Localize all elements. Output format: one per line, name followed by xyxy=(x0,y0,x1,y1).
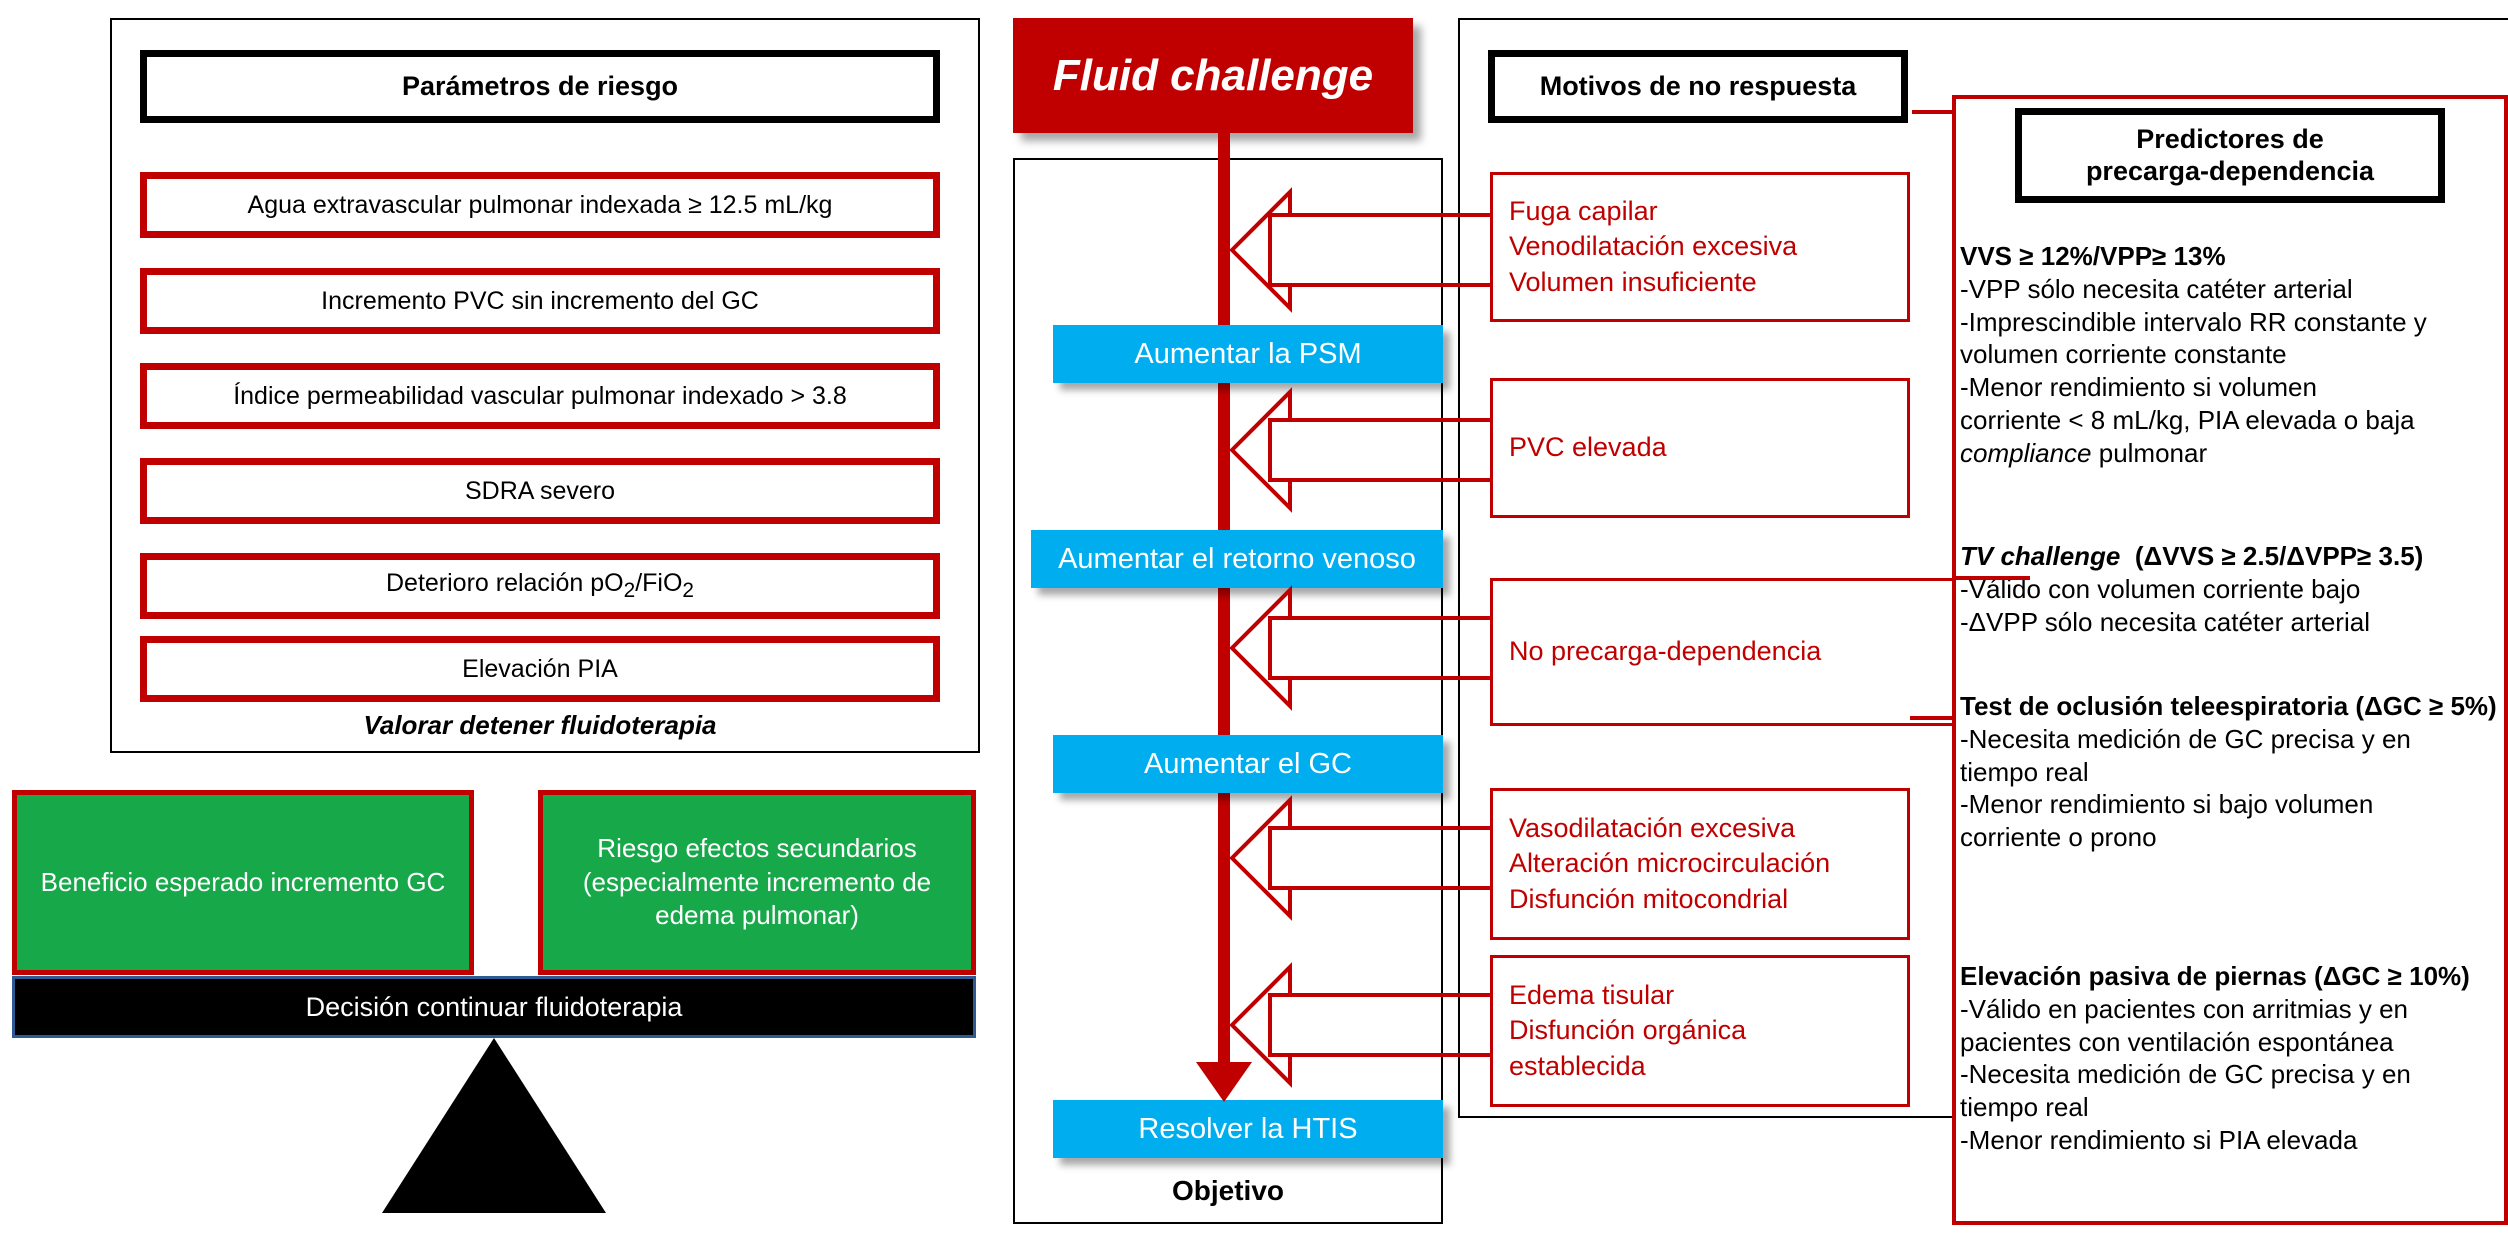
reason-line: establecida xyxy=(1509,1049,1907,1084)
flow-step-label: Resolver la HTIS xyxy=(1138,1113,1357,1146)
predictor-line: -Menor rendimiento si bajo volumen xyxy=(1960,788,2505,821)
reason-group-2: No precarga-dependencia xyxy=(1490,578,2030,726)
risk-item-label: SDRA severo xyxy=(465,477,615,506)
risk-item-1: Incremento PVC sin incremento del GC xyxy=(140,268,940,334)
predictor-line-italic-word: compliance xyxy=(1960,438,2092,468)
predictor-line: tiempo real xyxy=(1960,756,2505,789)
risk-item-3: SDRA severo xyxy=(140,458,940,524)
predictor-line: compliance pulmonar xyxy=(1960,437,2505,470)
reason-line: Disfunción mitocondrial xyxy=(1509,882,1907,917)
predictor-line: -ΔVPP sólo necesita catéter arterial xyxy=(1960,606,2508,639)
reason-line: Fuga capilar xyxy=(1509,194,1907,229)
flow-step-2: Aumentar el GC xyxy=(1053,735,1443,793)
reason-line: Vasodilatación excesiva xyxy=(1509,811,1907,846)
risk-item-label: Incremento PVC sin incremento del GC xyxy=(321,287,759,316)
reason-line: Venodilatación excesiva xyxy=(1509,229,1907,264)
decision-bar: Decisión continuar fluidoterapia xyxy=(12,976,976,1038)
predictor-section-tv-challenge: TV challenge (ΔVVS ≥ 2.5/ΔVPP≥ 3.5) -Vál… xyxy=(1960,540,2508,638)
diagram-canvas: Parámetros de riesgo Agua extravascular … xyxy=(0,0,2508,1258)
predictors-panel-header: Predictores de precarga-dependencia xyxy=(2015,108,2445,203)
risk-item-4: Deterioro relación pO2/FiO2 xyxy=(140,553,940,619)
predictor-line: tiempo real xyxy=(1960,1091,2505,1124)
predictor-title-italic: TV challenge xyxy=(1960,541,2120,571)
reason-line: No precarga-dependencia xyxy=(1509,634,2027,669)
flow-step-1: Aumentar el retorno venoso xyxy=(1031,530,1443,588)
reason-line: PVC elevada xyxy=(1509,430,1907,465)
predictor-line: -Imprescindible intervalo RR constante y xyxy=(1960,306,2505,339)
predictors-header-line2: precarga-dependencia xyxy=(2086,156,2374,187)
benefit-box: Beneficio esperado incremento GC xyxy=(12,790,474,975)
risk-item-label: Índice permeabilidad vascular pulmonar i… xyxy=(233,382,847,411)
fulcrum-triangle xyxy=(382,1038,606,1213)
predictor-line: -Válido con volumen corriente bajo xyxy=(1960,573,2508,606)
flow-spine xyxy=(1218,133,1230,1078)
predictor-line: volumen corriente constante xyxy=(1960,338,2505,371)
predictor-line: pacientes con ventilación espontánea xyxy=(1960,1026,2505,1059)
predictor-title: Elevación pasiva de piernas (ΔGC ≥ 10%) xyxy=(1960,960,2505,993)
reason-line: Alteración microcirculación xyxy=(1509,846,1907,881)
risk-item-label: Deterioro relación pO2/FiO2 xyxy=(386,569,694,603)
predictor-section-oclusion: Test de oclusión teleespiratoria (ΔGC ≥ … xyxy=(1960,690,2505,854)
fluid-challenge-label: Fluid challenge xyxy=(1053,51,1373,101)
predictor-line: -VPP sólo necesita catéter arterial xyxy=(1960,273,2505,306)
reason-line: Disfunción orgánica xyxy=(1509,1013,1907,1048)
reason-line: Edema tisular xyxy=(1509,978,1907,1013)
predictor-line: -Menor rendimiento si volumen xyxy=(1960,371,2505,404)
reason-group-3: Vasodilatación excesiva Alteración micro… xyxy=(1490,788,1910,940)
reason-line: Volumen insuficiente xyxy=(1509,265,1907,300)
center-footer-label: Objetivo xyxy=(1172,1175,1284,1206)
risk-item-label: Agua extravascular pulmonar indexada ≥ 1… xyxy=(248,191,833,220)
risk-item-0: Agua extravascular pulmonar indexada ≥ 1… xyxy=(140,172,940,238)
benefit-box-label: Beneficio esperado incremento GC xyxy=(41,866,446,900)
predictors-header-line1: Predictores de xyxy=(2136,124,2324,155)
flow-step-label: Aumentar la PSM xyxy=(1134,338,1361,371)
predictor-line: corriente o prono xyxy=(1960,821,2505,854)
flow-step-label: Aumentar el GC xyxy=(1144,748,1352,781)
fluid-challenge-title: Fluid challenge xyxy=(1013,18,1413,133)
risk-effects-box-label: Riesgo efectos secundarios (especialment… xyxy=(559,832,955,933)
predictor-title: Test de oclusión teleespiratoria (ΔGC ≥ … xyxy=(1960,690,2505,723)
center-footer: Objetivo xyxy=(1013,1175,1443,1207)
risk-footer-label: Valorar detener fluidoterapia xyxy=(363,710,716,740)
risk-item-2: Índice permeabilidad vascular pulmonar i… xyxy=(140,363,940,429)
flow-step-label: Aumentar el retorno venoso xyxy=(1058,543,1416,576)
reasons-panel-header: Motivos de no respuesta xyxy=(1488,50,1908,123)
decision-bar-label: Decisión continuar fluidoterapia xyxy=(306,992,683,1023)
predictor-title-rest: (ΔVVS ≥ 2.5/ΔVPP≥ 3.5) xyxy=(2128,541,2424,571)
flow-step-3: Resolver la HTIS xyxy=(1053,1100,1443,1158)
predictor-line: -Menor rendimiento si PIA elevada xyxy=(1960,1124,2505,1157)
risk-effects-box: Riesgo efectos secundarios (especialment… xyxy=(538,790,976,975)
risk-panel-footer-note: Valorar detener fluidoterapia xyxy=(140,710,940,741)
predictor-title: VVS ≥ 12%/VPP≥ 13% xyxy=(1960,240,2505,273)
risk-item-5: Elevación PIA xyxy=(140,636,940,702)
predictor-section-vvs: VVS ≥ 12%/VPP≥ 13% -VPP sólo necesita ca… xyxy=(1960,240,2505,469)
predictor-section-piernas: Elevación pasiva de piernas (ΔGC ≥ 10%) … xyxy=(1960,960,2505,1157)
reasons-panel-header-label: Motivos de no respuesta xyxy=(1540,71,1857,102)
predictor-line: -Necesita medición de GC precisa y en xyxy=(1960,1058,2505,1091)
reason-group-0: Fuga capilar Venodilatación excesiva Vol… xyxy=(1490,172,1910,322)
risk-panel-header: Parámetros de riesgo xyxy=(140,50,940,123)
fulcrum-triangle-wrap xyxy=(382,1038,606,1213)
risk-item-label: Elevación PIA xyxy=(462,655,618,684)
reason-group-1: PVC elevada xyxy=(1490,378,1910,518)
risk-panel-header-label: Parámetros de riesgo xyxy=(402,71,678,102)
reason-group-4: Edema tisular Disfunción orgánica establ… xyxy=(1490,955,1910,1107)
predictor-line: -Necesita medición de GC precisa y en xyxy=(1960,723,2505,756)
flow-step-0: Aumentar la PSM xyxy=(1053,325,1443,383)
predictor-line: -Válido en pacientes con arritmias y en xyxy=(1960,993,2505,1026)
predictor-line: corriente < 8 mL/kg, PIA elevada o baja xyxy=(1960,404,2505,437)
predictor-title: TV challenge (ΔVVS ≥ 2.5/ΔVPP≥ 3.5) xyxy=(1960,540,2508,573)
